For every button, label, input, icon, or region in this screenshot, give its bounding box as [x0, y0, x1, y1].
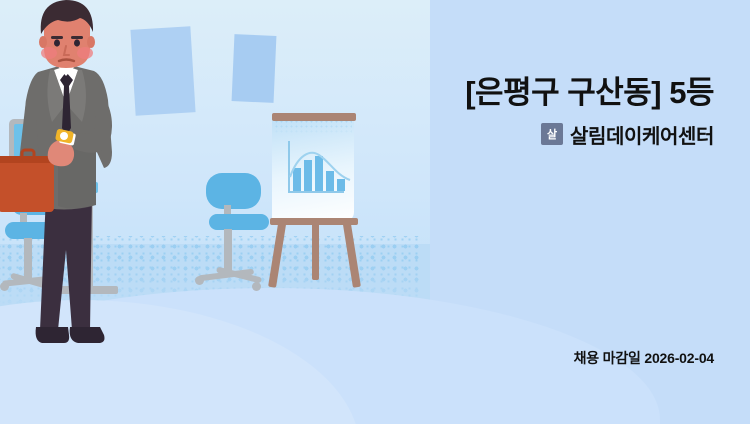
chair-backrest [206, 173, 261, 209]
man-legs [40, 196, 92, 330]
chair-wheel [252, 282, 261, 291]
man-head [39, 0, 95, 68]
man-shoes [36, 327, 105, 343]
easel-tray [270, 218, 358, 225]
easel-top-clamp [272, 113, 356, 121]
easel-paper-texture [274, 119, 352, 135]
chart-x-axis [288, 191, 344, 193]
deadline-text: 채용 마감일 2026-02-04 [574, 348, 714, 368]
easel-leg-center [312, 216, 319, 280]
banner-text-block: [은평구 구산동] 5등 살 살림데이케어센터 [465, 76, 714, 149]
wall-poster-small [232, 34, 277, 103]
businessman-checking-watch [0, 0, 200, 424]
subtitle-row: 살 살림데이케어센터 [465, 120, 714, 149]
chart-trend-curve [288, 149, 352, 191]
status-badge: 살 [541, 123, 563, 145]
organization-name: 살림데이케어센터 [570, 120, 714, 149]
chair-seat [209, 214, 269, 230]
page-title: [은평구 구산동] 5등 [465, 76, 714, 111]
briefcase [0, 150, 54, 212]
job-posting-banner: [은평구 구산동] 5등 살 살림데이케어센터 채용 마감일 2026-02-0… [0, 0, 750, 424]
